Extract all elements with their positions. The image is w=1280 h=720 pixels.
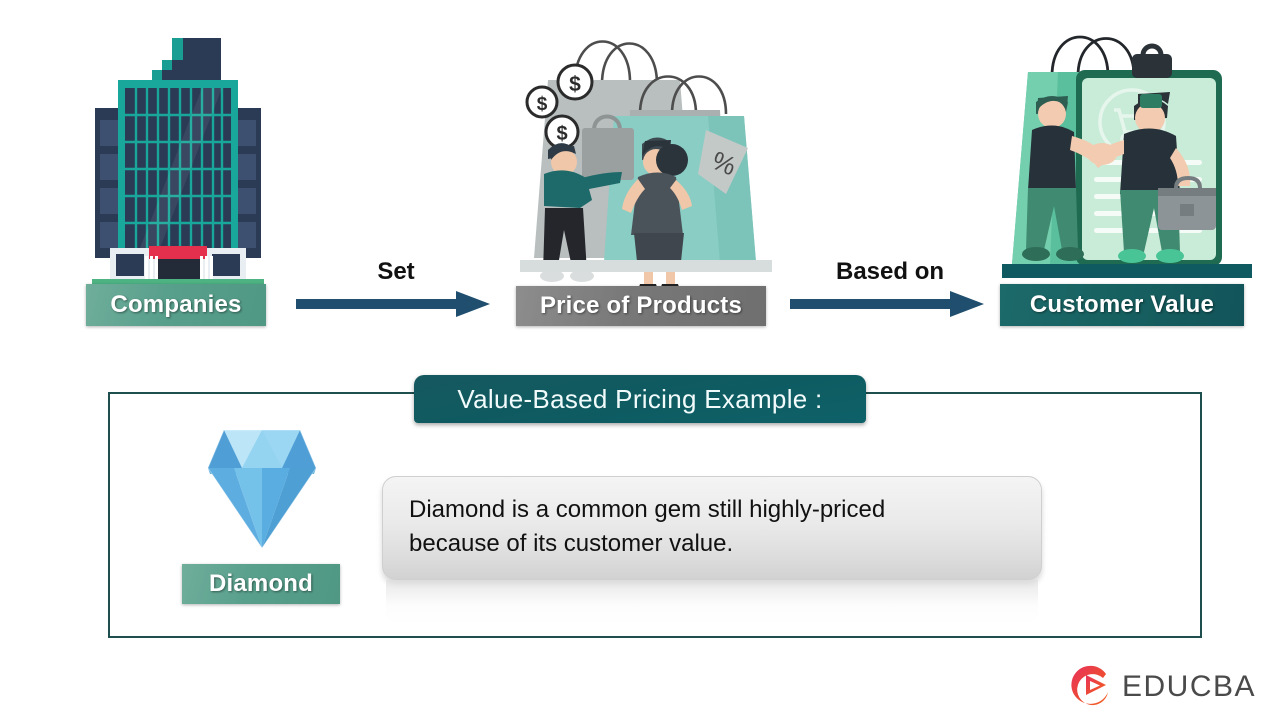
- connector-based-on: Based on: [790, 258, 990, 320]
- example-description-line-1: Diamond is a common gem still highly-pri…: [409, 493, 1019, 527]
- connector-set: Set: [296, 258, 496, 320]
- example-title-text: Value-Based Pricing Example :: [457, 384, 822, 415]
- example-title-banner: Value-Based Pricing Example :: [414, 375, 866, 423]
- node-label-price-of-products-text: Price of Products: [540, 292, 742, 320]
- infographic-canvas: % $ $ $: [0, 0, 1280, 720]
- node-label-customer-value[interactable]: Customer Value: [1000, 284, 1244, 326]
- node-label-customer-value-text: Customer Value: [1030, 291, 1214, 319]
- example-description-line-2: because of its customer value.: [409, 527, 1019, 561]
- diamond-gem-illustration: [182, 424, 342, 552]
- arrow-right-icon: [790, 288, 990, 322]
- example-item-label-diamond-text: Diamond: [209, 570, 313, 598]
- arrow-right-icon: [296, 288, 496, 322]
- connector-based-on-label: Based on: [790, 258, 990, 286]
- office-building-illustration: [78, 30, 278, 288]
- node-label-companies-text: Companies: [110, 291, 241, 319]
- example-description-box: Diamond is a common gem still highly-pri…: [382, 476, 1042, 580]
- svg-text:$: $: [556, 123, 567, 145]
- handshake-deal-illustration: [992, 22, 1262, 290]
- svg-text:$: $: [569, 73, 581, 96]
- node-label-price-of-products[interactable]: Price of Products: [516, 286, 766, 326]
- node-label-companies[interactable]: Companies: [86, 284, 266, 326]
- example-item-label-diamond[interactable]: Diamond: [182, 564, 340, 604]
- educba-logo-text: EDUCBA: [1122, 670, 1256, 704]
- educba-play-swoosh-icon: [1066, 660, 1116, 710]
- shopping-bags-illustration: % $ $ $: [512, 22, 780, 290]
- svg-text:$: $: [537, 94, 548, 115]
- connector-set-label: Set: [296, 258, 496, 286]
